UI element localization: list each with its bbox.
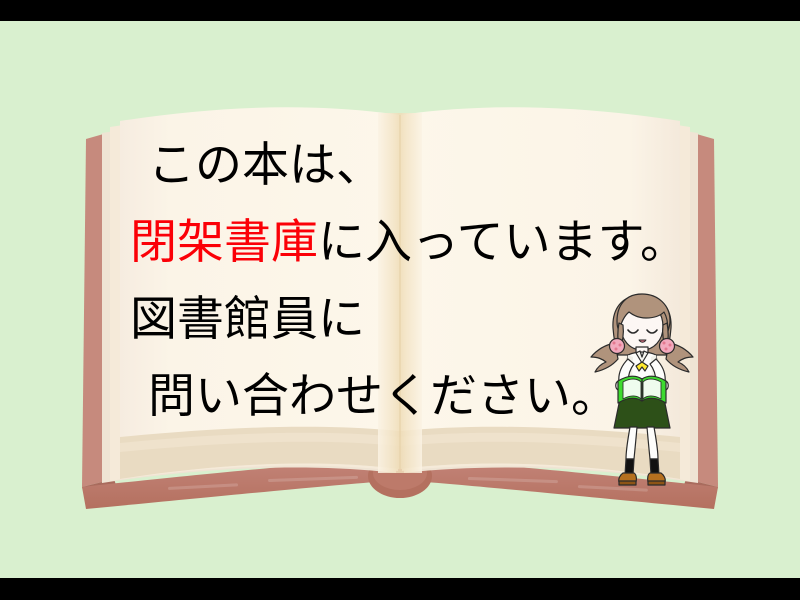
notice-line-2: 閉架書庫に入っています。 bbox=[130, 204, 690, 281]
notice-line-2-rest: に入っています。 bbox=[318, 215, 687, 270]
hairtie-left-pompom bbox=[610, 339, 625, 354]
notice-line-1: この本は、 bbox=[130, 127, 690, 204]
slide-content: この本は、 閉架書庫に入っています。 図書館員に 問い合わせください。 bbox=[0, 21, 800, 578]
shoe-left-sole bbox=[619, 481, 636, 485]
notice-highlight-closed-stacks: 閉架書庫 bbox=[130, 215, 318, 270]
slide-canvas: この本は、 閉架書庫に入っています。 図書館員に 問い合わせください。 bbox=[0, 0, 800, 600]
leg-left bbox=[626, 427, 637, 459]
leg-right bbox=[647, 427, 658, 459]
held-book bbox=[618, 376, 666, 403]
letterbox-top bbox=[0, 0, 800, 21]
shoe-right-sole bbox=[648, 481, 665, 485]
hairtie-right-pompom bbox=[660, 339, 675, 354]
girl-reading-illustration bbox=[588, 283, 696, 489]
letterbox-bottom bbox=[0, 578, 800, 600]
